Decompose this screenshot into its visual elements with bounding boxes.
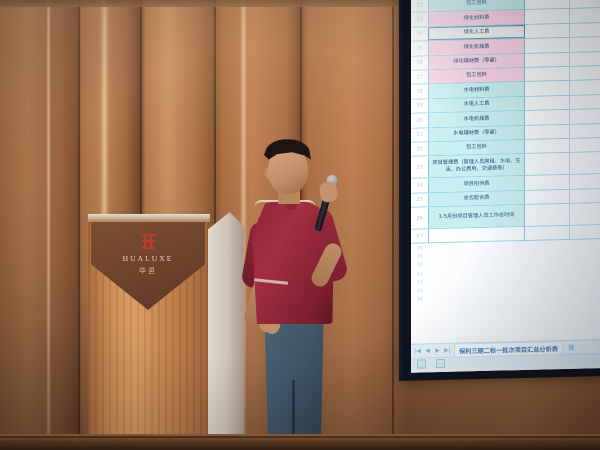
row-label-cell[interactable]: 包工包料 — [428, 68, 525, 84]
value-cell[interactable] — [570, 152, 600, 174]
row-label-cell[interactable]: 水电机械费 — [428, 111, 525, 127]
row-label-cell[interactable]: 项目招待费 — [428, 176, 525, 192]
podium-brand-text-cn: 华邑 — [139, 266, 157, 276]
row-number: 19 — [411, 99, 428, 113]
row-number: 22 — [411, 142, 428, 156]
row-number: 25 — [411, 193, 428, 207]
grid-view-icon[interactable] — [436, 359, 445, 368]
row-label-cell[interactable]: 绿化材料费 — [428, 10, 525, 26]
value-cell[interactable] — [525, 0, 570, 9]
value-cell[interactable] — [525, 139, 570, 153]
row-label-cell[interactable]: 水电人工费 — [428, 97, 525, 113]
first-sheet-icon[interactable]: |◀ — [414, 347, 421, 354]
row-number: 18 — [411, 85, 428, 99]
next-sheet-icon[interactable]: ▶ — [434, 347, 441, 354]
prev-sheet-icon[interactable]: ◀ — [424, 347, 431, 354]
row-label-cell[interactable]: 项目管理费（管理人员房租、水电、生活、办公费用、交通费等） — [428, 154, 525, 177]
value-cell[interactable] — [570, 203, 600, 225]
value-cell[interactable] — [570, 23, 600, 37]
projection-screen-frame: 12 包工包料 13 绿化材料费 14 绿化人工费 — [399, 0, 600, 381]
row-number: 15 — [411, 41, 428, 55]
value-cell[interactable] — [525, 38, 570, 52]
value-cell[interactable] — [570, 174, 600, 188]
row-label-cell[interactable]: 水电材料费 — [428, 82, 525, 98]
value-cell[interactable] — [570, 95, 600, 109]
row-label-cell[interactable] — [428, 227, 525, 243]
value-cell[interactable] — [570, 66, 600, 80]
podium-brand-text: HUALUXE — [123, 254, 174, 263]
row-number: 16 — [411, 56, 428, 70]
row-label-cell[interactable]: 总包配合费 — [428, 191, 525, 207]
value-cell[interactable] — [525, 153, 570, 175]
row-label-cell[interactable]: 绿化机械费 — [428, 39, 525, 55]
value-cell[interactable] — [525, 67, 570, 81]
row-number: 26 — [411, 207, 428, 228]
row-number: 34 — [411, 295, 428, 304]
value-cell[interactable] — [570, 123, 600, 137]
presenter-person — [236, 130, 366, 450]
spreadsheet-grid[interactable]: 12 包工包料 13 绿化材料费 14 绿化人工费 — [411, 0, 600, 304]
podium-top-edge — [88, 214, 210, 222]
value-cell[interactable] — [570, 0, 600, 8]
empty-rows-region[interactable]: 28 29 30 31 32 33 34 — [411, 239, 600, 304]
stage-edge-line — [0, 436, 600, 438]
row-label-cell[interactable]: 绿化辅材费（零星） — [428, 53, 525, 69]
value-cell[interactable] — [525, 9, 570, 23]
value-cell[interactable] — [525, 24, 570, 38]
value-cell[interactable] — [525, 124, 570, 138]
spreadsheet-application[interactable]: 12 包工包料 13 绿化材料费 14 绿化人工费 — [411, 0, 600, 344]
value-cell[interactable] — [570, 225, 600, 239]
row-number: 12 — [411, 0, 428, 12]
row-number: 14 — [411, 27, 428, 41]
value-cell[interactable] — [570, 52, 600, 66]
value-cell[interactable] — [525, 226, 570, 240]
value-cell[interactable] — [570, 80, 600, 94]
row-label-cell[interactable]: 水电辅材费（零星） — [428, 125, 525, 141]
row-number: 24 — [411, 179, 428, 193]
value-cell[interactable] — [570, 8, 600, 22]
value-cell[interactable] — [570, 109, 600, 123]
row-number: 21 — [411, 128, 428, 142]
row-number: 23 — [411, 157, 428, 178]
projection-screen: 12 包工包料 13 绿化材料费 14 绿化人工费 — [411, 0, 600, 373]
lectern-podium: HUALUXE 华邑 — [56, 206, 246, 450]
row-number: 13 — [411, 13, 428, 27]
conference-presentation-photo: 12 包工包料 13 绿化材料费 14 绿化人工费 — [0, 0, 600, 450]
row-number: 27 — [411, 229, 428, 243]
value-cell[interactable] — [525, 110, 570, 124]
row-label-cell[interactable]: 1-5月份项目管理人员工作总时间 — [428, 205, 525, 228]
hualuxe-logo-mark-icon — [142, 234, 155, 251]
row-label-cell-selected[interactable]: 绿化人工费 — [428, 25, 525, 41]
value-cell[interactable] — [525, 175, 570, 189]
value-cell[interactable] — [570, 37, 600, 51]
value-cell[interactable] — [525, 52, 570, 66]
row-number: 20 — [411, 113, 428, 127]
page-layout-icon[interactable] — [417, 359, 426, 368]
value-cell[interactable] — [570, 138, 600, 152]
value-cell[interactable] — [570, 189, 600, 203]
value-cell[interactable] — [525, 190, 570, 204]
value-cell[interactable] — [525, 204, 570, 226]
last-sheet-icon[interactable]: ▶| — [444, 347, 451, 354]
value-cell[interactable] — [525, 96, 570, 110]
sheet-tab-next[interactable]: 保 — [566, 343, 574, 352]
row-number: 17 — [411, 70, 428, 84]
value-cell[interactable] — [525, 81, 570, 95]
row-label-cell[interactable]: 包工包料 — [428, 140, 525, 156]
